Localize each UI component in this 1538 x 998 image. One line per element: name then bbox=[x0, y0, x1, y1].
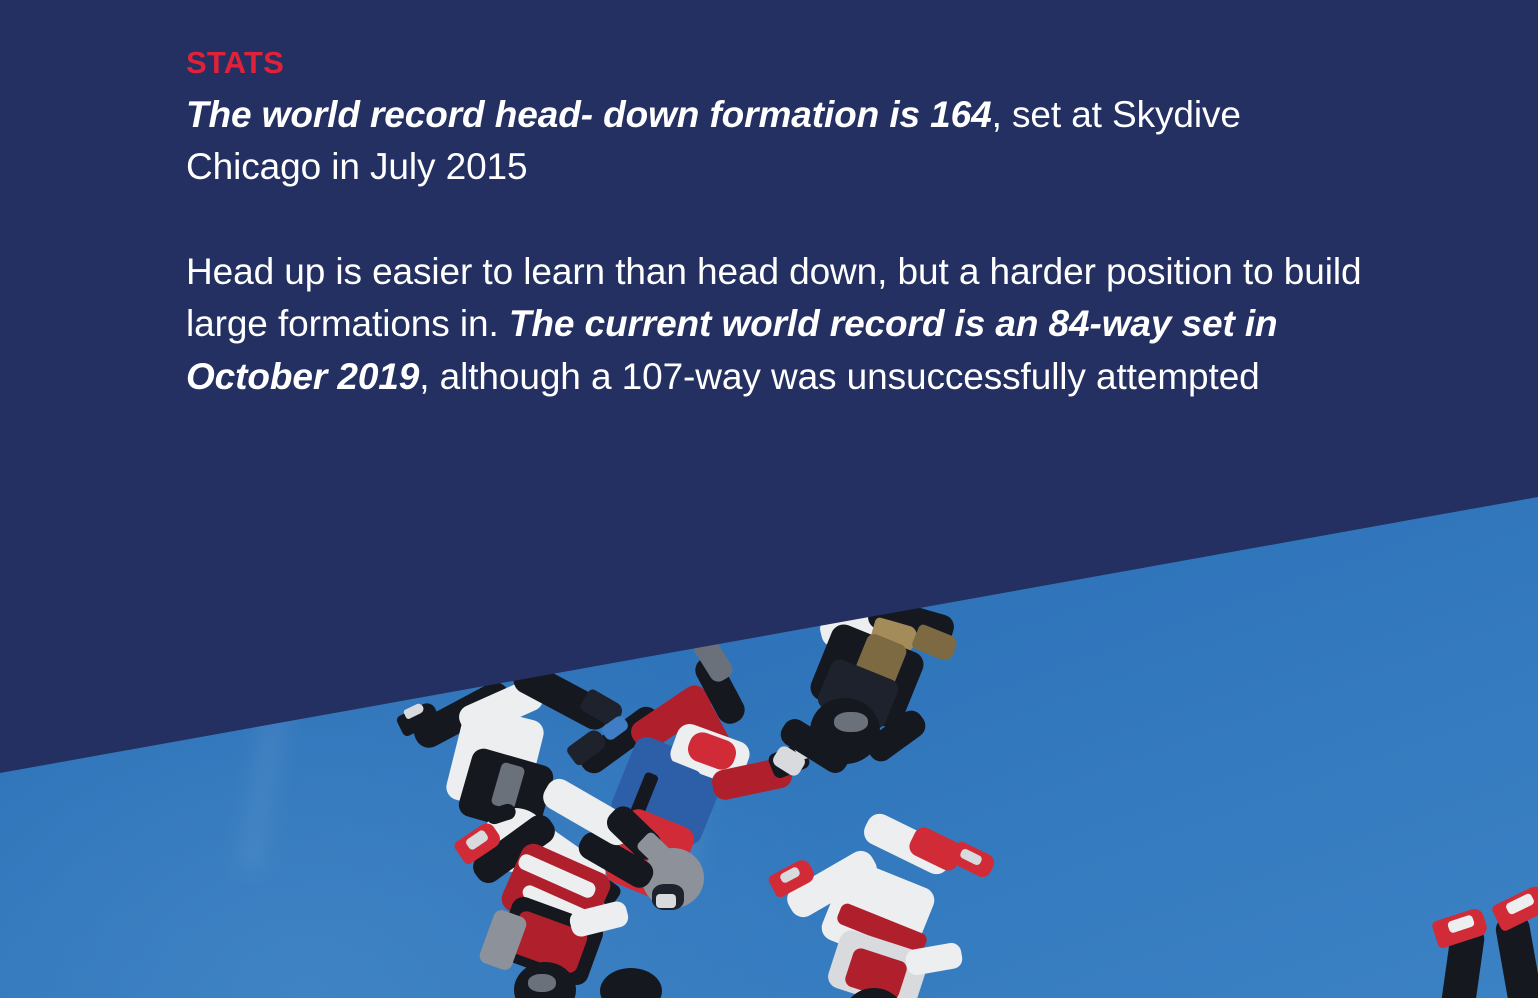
stat-emphasis-record-164: The world record head- down formation is… bbox=[186, 94, 992, 135]
skydiver-upper-right bbox=[760, 616, 980, 816]
stat-paragraph-head-up: Head up is easier to learn than head dow… bbox=[186, 246, 1366, 404]
skydiver-lower-right bbox=[770, 828, 1030, 998]
stat-detail-107-way: , although a 107-way was unsuccessfully … bbox=[419, 356, 1259, 397]
infographic-slide: STATS The world record head- down format… bbox=[0, 0, 1538, 998]
section-label-stats: STATS bbox=[186, 47, 1366, 80]
text-block: STATS The world record head- down format… bbox=[186, 47, 1366, 404]
skydiver-partial-bottom bbox=[600, 968, 670, 998]
stat-paragraph-head-down: The world record head- down formation is… bbox=[186, 89, 1366, 194]
skydiver-far-right-feet bbox=[1420, 880, 1538, 998]
